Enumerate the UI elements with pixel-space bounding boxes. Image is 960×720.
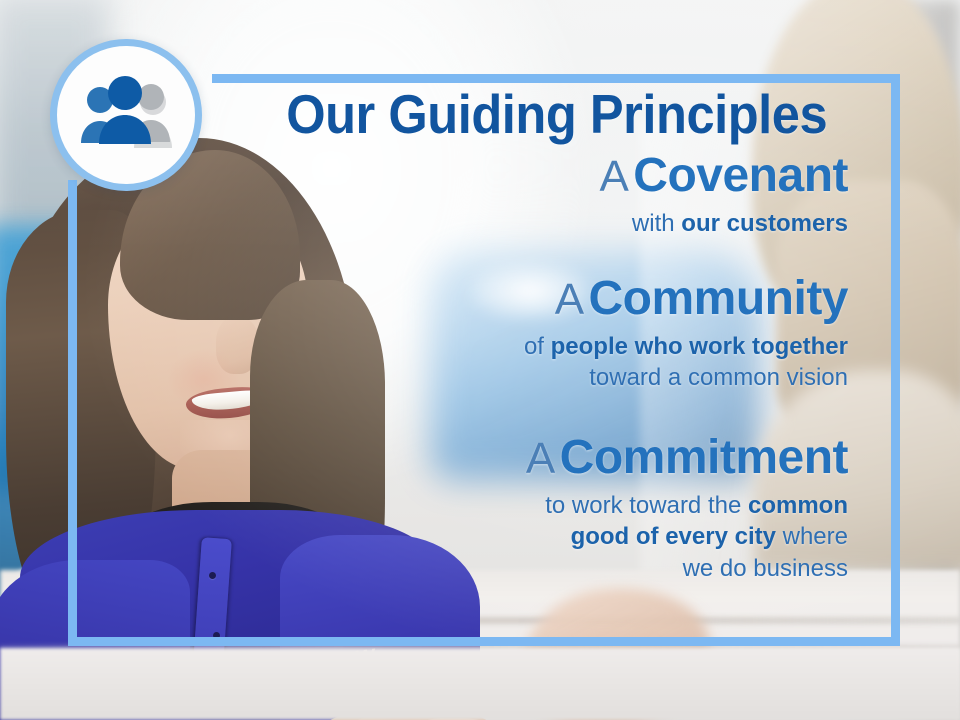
principle-article: A <box>599 152 628 201</box>
principle-keyword: Commitment <box>560 431 848 484</box>
principle-community: A Community of people who work together … <box>210 273 848 393</box>
principle-commitment-detail: to work toward the common good of every … <box>210 490 848 584</box>
guiding-principles-graphic: FLOW AUTOMOTIVE FLOW <box>0 0 960 720</box>
principles-copy: Our Guiding Principles A Covenant with o… <box>210 86 870 584</box>
detail-line-two-bold: good of every city <box>571 523 776 550</box>
principle-commitment-heading: A Commitment <box>210 432 848 485</box>
principle-article: A <box>555 275 584 324</box>
detail-line-three: we do business <box>683 555 848 582</box>
detail-bold: our customers <box>681 210 848 237</box>
detail-line-two-plain: where <box>776 523 848 550</box>
detail-bold: common <box>748 492 848 519</box>
principle-commitment: A Commitment to work toward the common g… <box>210 432 848 584</box>
principle-keyword: Covenant <box>633 149 848 202</box>
principle-community-detail: of people who work together toward a com… <box>210 332 848 393</box>
principle-covenant: A Covenant with our customers <box>210 150 848 240</box>
principle-covenant-detail: with our customers <box>210 209 848 240</box>
principle-keyword: Community <box>589 272 849 325</box>
principle-community-heading: A Community <box>210 273 848 326</box>
principle-article: A <box>526 434 555 483</box>
page-title: Our Guiding Principles <box>261 86 852 144</box>
detail-plain: to work toward the <box>545 492 748 519</box>
detail-bold: people who work together <box>551 333 848 360</box>
detail-plain: with <box>632 210 681 237</box>
desk-surface <box>0 648 960 720</box>
associate-polo-button-bottom <box>213 632 220 639</box>
people-group-icon <box>74 76 178 154</box>
detail-plain: of <box>524 333 551 360</box>
people-badge <box>50 39 202 191</box>
detail-line-two: toward a common vision <box>589 364 848 391</box>
principle-covenant-heading: A Covenant <box>210 150 848 203</box>
